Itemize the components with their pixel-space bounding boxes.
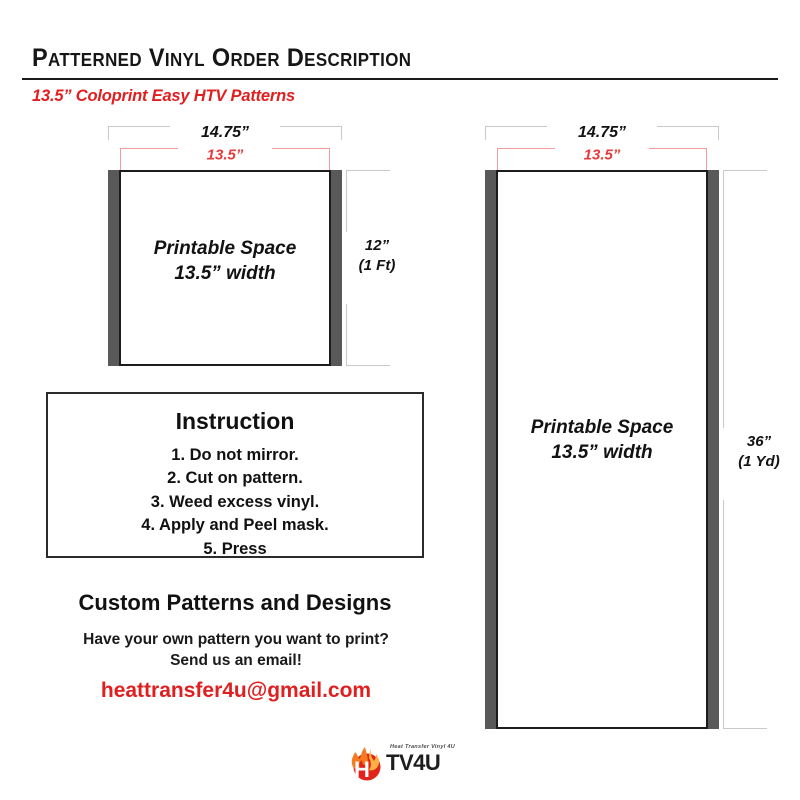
dimension-outer-width-right-label: 14.75” — [573, 125, 631, 141]
dimension-length-right: 36” (1 Yd) — [723, 170, 793, 729]
dimension-outer-width-right: 14.75” — [485, 126, 719, 140]
instruction-step: 4. Apply and Peel mask. — [48, 514, 422, 537]
length-label-value: 36” — [730, 432, 788, 452]
dimension-outer-width-left: 14.75” — [108, 126, 342, 140]
length-label-unit: (1 Yd) — [730, 452, 788, 472]
custom-patterns-heading: Custom Patterns and Designs — [46, 590, 424, 616]
dimension-length-right-label: 36” (1 Yd) — [730, 432, 788, 471]
dimension-length-left: 12” (1 Ft) — [346, 170, 406, 366]
printable-label-line2: 13.5” width — [119, 261, 331, 286]
dimension-printable-width-left-label: 13.5” — [202, 148, 249, 163]
instruction-steps: 1. Do not mirror. 2. Cut on pattern. 3. … — [48, 444, 422, 561]
instruction-step: 1. Do not mirror. — [48, 444, 422, 467]
logo-wordmark: TV4U — [386, 750, 440, 776]
instruction-title: Instruction — [48, 408, 422, 435]
custom-patterns-text: Have your own pattern you want to print?… — [40, 630, 432, 672]
length-label-value: 12” — [353, 236, 401, 256]
printable-label-line2: 13.5” width — [496, 440, 708, 465]
dimension-printable-width-left: 13.5” — [120, 148, 330, 162]
flame-h-icon: H — [348, 746, 388, 782]
page-subtitle: 13.5” Coloprint Easy HTV Patterns — [32, 87, 295, 106]
instruction-box: Instruction 1. Do not mirror. 2. Cut on … — [46, 392, 424, 558]
order-description-page: Patterned Vinyl Order Description 13.5” … — [0, 0, 800, 800]
instruction-step: 2. Cut on pattern. — [48, 467, 422, 490]
header-divider — [22, 78, 778, 80]
instruction-step: 5. Press — [48, 538, 422, 561]
dimension-outer-width-left-label: 14.75” — [196, 125, 254, 141]
svg-text:H: H — [354, 757, 370, 782]
custom-patterns-line2: Send us an email! — [40, 651, 432, 672]
dimension-printable-width-right-label: 13.5” — [579, 148, 626, 163]
contact-email[interactable]: heattransfer4u@gmail.com — [40, 679, 432, 703]
htv4u-logo: H Heat Transfer Vinyl 4U TV4U — [348, 742, 468, 784]
length-label-unit: (1 Ft) — [353, 256, 401, 276]
custom-patterns-line1: Have your own pattern you want to print? — [40, 630, 432, 651]
dimension-printable-width-right: 13.5” — [497, 148, 707, 162]
dimension-length-left-label: 12” (1 Ft) — [353, 236, 401, 275]
printable-area-12inch-label: Printable Space 13.5” width — [119, 236, 331, 286]
printable-area-36inch-label: Printable Space 13.5” width — [496, 415, 708, 465]
instruction-step: 3. Weed excess vinyl. — [48, 491, 422, 514]
printable-label-line1: Printable Space — [119, 236, 331, 261]
printable-label-line1: Printable Space — [496, 415, 708, 440]
page-title: Patterned Vinyl Order Description — [32, 44, 411, 73]
